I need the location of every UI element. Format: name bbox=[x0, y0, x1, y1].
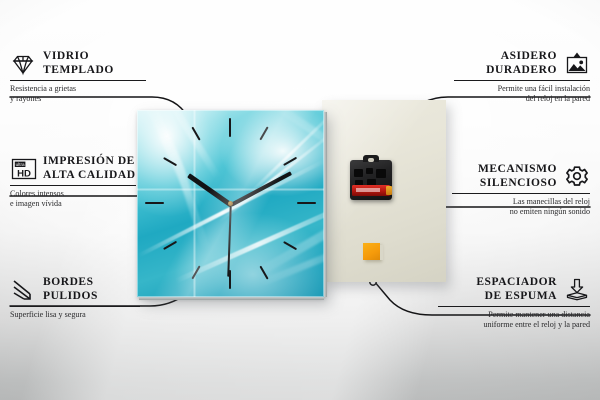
diagonal-lines-icon bbox=[10, 277, 36, 303]
feature-tempered-glass: VIDRIO TEMPLADO Resistencia a grietas y … bbox=[10, 50, 146, 104]
feature-subtitle-line2: no emiten ningún sonido bbox=[510, 207, 590, 216]
feature-rule bbox=[454, 80, 590, 81]
clock-mechanism bbox=[350, 160, 392, 200]
feature-polished-edges: BORDES PULIDOS Superficie lisa y segura bbox=[10, 276, 140, 320]
feature-rule bbox=[438, 306, 590, 307]
feature-rule bbox=[452, 193, 590, 194]
glass-right-rim bbox=[324, 112, 327, 297]
feature-subtitle-line2: del reloj en la pared bbox=[526, 94, 590, 103]
feature-subtitle-line1: Las manecillas del reloj bbox=[513, 197, 590, 206]
feature-title-line2: DE ESPUMA bbox=[485, 290, 557, 302]
foam-spacer-piece bbox=[363, 243, 380, 260]
feature-title-line2: ALTA CALIDAD bbox=[43, 169, 136, 181]
feature-subtitle-line2: uniforme entre el reloj y la pared bbox=[483, 320, 590, 329]
feature-subtitle-line1: Permite una fácil instalación bbox=[498, 84, 590, 93]
feature-rule bbox=[10, 185, 136, 186]
battery-label bbox=[356, 188, 380, 192]
down-arrow-pad-icon bbox=[564, 277, 590, 303]
foam-spacer-side bbox=[380, 245, 383, 260]
feature-durable-hanger: ASIDERO DURADERO Permite una fácil insta… bbox=[454, 50, 590, 104]
mechanism-detail bbox=[366, 168, 373, 174]
ultra-hd-icon: ultra HD bbox=[10, 156, 36, 182]
feature-rule bbox=[10, 306, 140, 307]
clock-battery bbox=[352, 185, 390, 196]
feature-subtitle-line2: y rayones bbox=[10, 94, 41, 103]
feature-title-line1: ASIDERO bbox=[501, 50, 557, 62]
diamond-icon bbox=[10, 51, 36, 77]
feature-title-line2: TEMPLADO bbox=[43, 64, 114, 76]
mechanism-detail bbox=[376, 169, 386, 178]
clock-back-panel bbox=[322, 100, 446, 282]
clock-front-face bbox=[137, 110, 324, 297]
picture-frame-icon bbox=[564, 51, 590, 77]
feature-title-line2: PULIDOS bbox=[43, 290, 98, 302]
infographic-canvas: VIDRIO TEMPLADO Resistencia a grietas y … bbox=[0, 0, 600, 400]
feature-title-line1: VIDRIO bbox=[43, 50, 89, 62]
svg-text:ultra: ultra bbox=[16, 162, 25, 167]
feature-subtitle-line2: e imagen vívida bbox=[10, 199, 62, 208]
feature-title-line2: SILENCIOSO bbox=[480, 177, 557, 189]
feature-hd-print: ultra HD IMPRESIÓN DE ALTA CALIDAD Color… bbox=[10, 155, 136, 209]
battery-positive-terminal bbox=[386, 186, 392, 195]
feature-silent-mechanism: MECANISMO SILENCIOSO Las manecillas del … bbox=[452, 163, 590, 217]
gear-icon bbox=[564, 164, 590, 190]
feature-title-line1: MECANISMO bbox=[478, 163, 557, 175]
feature-title-line1: IMPRESIÓN DE bbox=[43, 155, 135, 167]
feature-subtitle-line1: Permite mantener una distancia bbox=[488, 310, 590, 319]
feature-subtitle-line1: Superficie lisa y segura bbox=[10, 310, 86, 319]
feature-title-line1: BORDES bbox=[43, 276, 94, 288]
feature-title-line1: ESPACIADOR bbox=[476, 276, 557, 288]
mechanism-hanger-hole bbox=[368, 158, 374, 162]
feature-subtitle-line1: Resistencia a grietas bbox=[10, 84, 76, 93]
feature-subtitle-line1: Colores intensos bbox=[10, 189, 64, 198]
glass-bottom-rim bbox=[139, 297, 324, 300]
feature-title-line2: DURADERO bbox=[486, 64, 557, 76]
feature-rule bbox=[10, 80, 146, 81]
mechanism-detail bbox=[354, 169, 363, 177]
glass-edge bbox=[137, 110, 324, 297]
feature-foam-spacer: ESPACIADOR DE ESPUMA Permite mantener un… bbox=[438, 276, 590, 330]
svg-text:HD: HD bbox=[17, 168, 31, 179]
